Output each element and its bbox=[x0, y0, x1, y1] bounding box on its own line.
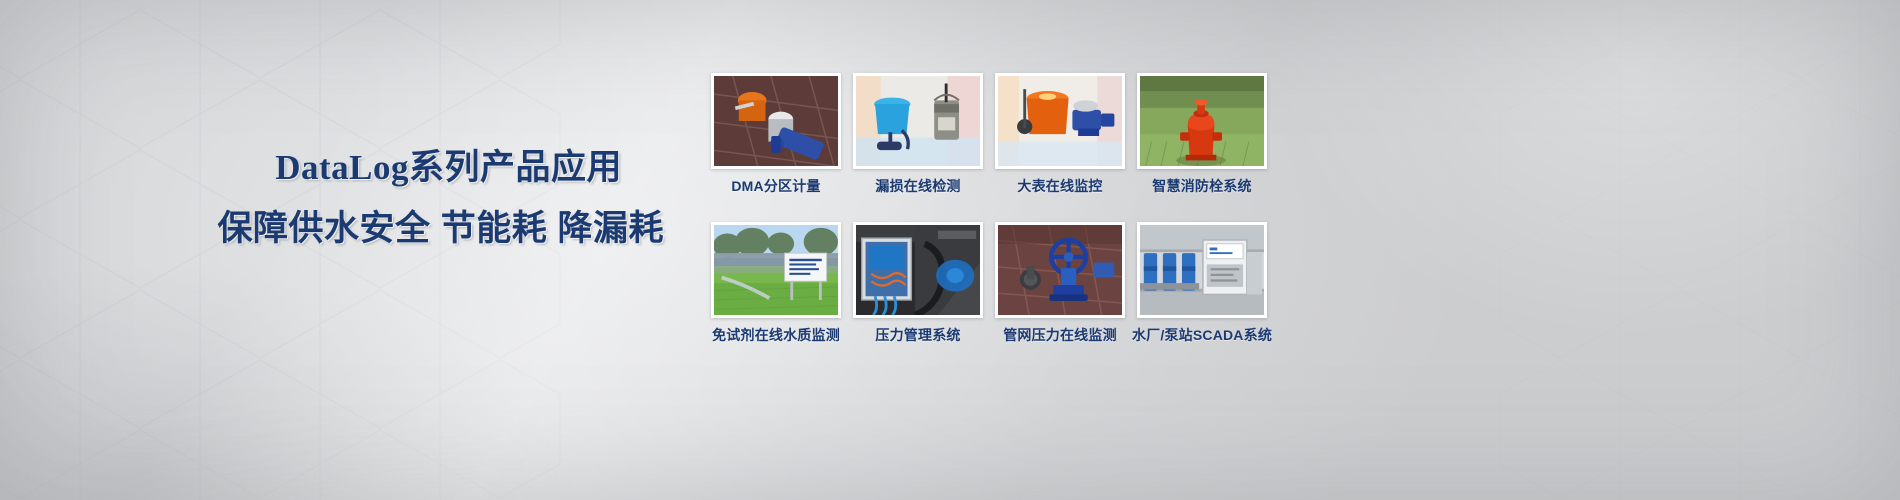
pressure-management-photo bbox=[856, 225, 980, 315]
product-application-banner: DataLog系列产品应用 保障供水安全 节能耗 降漏耗 bbox=[0, 0, 1900, 500]
product-thumbnail-frame[interactable] bbox=[995, 222, 1125, 318]
headline-block: DataLog系列产品应用 保障供水安全 节能耗 降漏耗 bbox=[0, 150, 672, 246]
product-caption: 漏损在线检测 bbox=[875, 176, 960, 196]
product-thumbnail-frame[interactable] bbox=[1137, 222, 1267, 318]
product-thumbnail-frame[interactable] bbox=[995, 73, 1125, 169]
product-cell-water-quality-monitor[interactable]: 免试剂在线水质监测 bbox=[705, 222, 847, 359]
product-cell-smart-hydrant[interactable]: 智慧消防栓系统 bbox=[1131, 73, 1273, 210]
headline-secondary: 保障供水安全 节能耗 降漏耗 bbox=[0, 211, 672, 246]
product-thumbnail-frame[interactable] bbox=[1137, 73, 1267, 169]
product-grid: DMA分区计量 bbox=[705, 73, 1273, 359]
product-cell-pressure-management[interactable]: 压力管理系统 bbox=[847, 222, 989, 359]
product-caption: 大表在线监控 bbox=[1017, 176, 1102, 196]
product-caption: 水厂/泵站SCADA系统 bbox=[1132, 325, 1272, 345]
scada-system-photo bbox=[1140, 225, 1264, 315]
product-cell-pipeline-pressure-monitor[interactable]: 管网压力在线监测 bbox=[989, 222, 1131, 359]
product-caption: 免试剂在线水质监测 bbox=[712, 325, 840, 345]
product-thumbnail-frame[interactable] bbox=[853, 73, 983, 169]
product-caption: DMA分区计量 bbox=[731, 176, 820, 196]
product-thumbnail-frame[interactable] bbox=[853, 222, 983, 318]
product-cell-large-meter-monitor[interactable]: 大表在线监控 bbox=[989, 73, 1131, 210]
dma-metering-photo bbox=[714, 76, 838, 166]
reagentless-water-quality-photo bbox=[714, 225, 838, 315]
headline-primary: DataLog系列产品应用 bbox=[0, 150, 672, 185]
product-thumbnail-frame[interactable] bbox=[711, 222, 841, 318]
product-cell-dma-metering[interactable]: DMA分区计量 bbox=[705, 73, 847, 210]
product-cell-leak-detection[interactable]: 漏损在线检测 bbox=[847, 73, 989, 210]
product-caption: 智慧消防栓系统 bbox=[1152, 176, 1251, 196]
leak-detection-photo bbox=[856, 76, 980, 166]
smart-hydrant-photo bbox=[1140, 76, 1264, 166]
product-cell-scada-system[interactable]: 水厂/泵站SCADA系统 bbox=[1131, 222, 1273, 359]
product-thumbnail-frame[interactable] bbox=[711, 73, 841, 169]
product-caption: 管网压力在线监测 bbox=[1003, 325, 1117, 345]
pipeline-pressure-monitor-photo bbox=[998, 225, 1122, 315]
large-meter-monitor-photo bbox=[998, 76, 1122, 166]
product-caption: 压力管理系统 bbox=[875, 325, 960, 345]
